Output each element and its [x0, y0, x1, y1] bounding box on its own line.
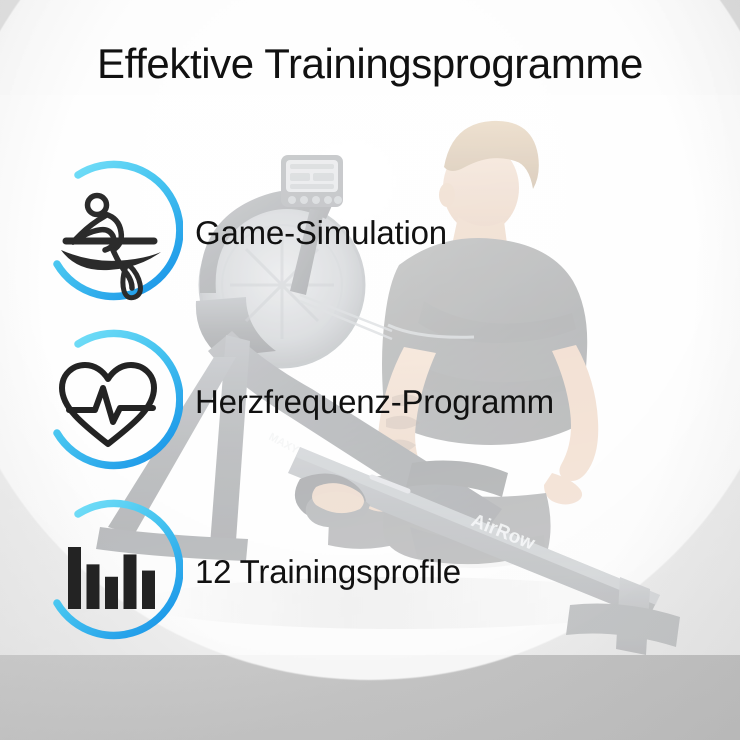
feature-item-training-profiles: 12 Trainingsprofile [33, 497, 461, 647]
bar-chart-icon [33, 497, 183, 647]
feature-icon-ring-3 [33, 497, 183, 647]
bar-chart-bar [68, 547, 81, 609]
feature-label-3: 12 Trainingsprofile [195, 553, 461, 591]
page-title: Effektive Trainingsprogramme [0, 40, 740, 88]
feature-label-2: Herzfrequenz-Programm [195, 383, 554, 421]
feature-icon-ring-1 [33, 158, 183, 308]
bar-chart-bar [142, 571, 155, 609]
heart-pulse-icon [33, 327, 183, 477]
feature-icon-ring-2 [33, 327, 183, 477]
feature-item-game-simulation: Game-Simulation [33, 158, 447, 308]
rowing-athlete-icon [33, 158, 183, 308]
feature-label-1: Game-Simulation [195, 214, 447, 252]
feature-item-heart-rate: Herzfrequenz-Programm [33, 327, 554, 477]
bar-chart-bar [105, 577, 118, 609]
bar-chart-bar [124, 554, 137, 609]
marketing-image-canvas: AirRow MAXY [0, 0, 740, 740]
bar-chart-bar [87, 564, 100, 609]
